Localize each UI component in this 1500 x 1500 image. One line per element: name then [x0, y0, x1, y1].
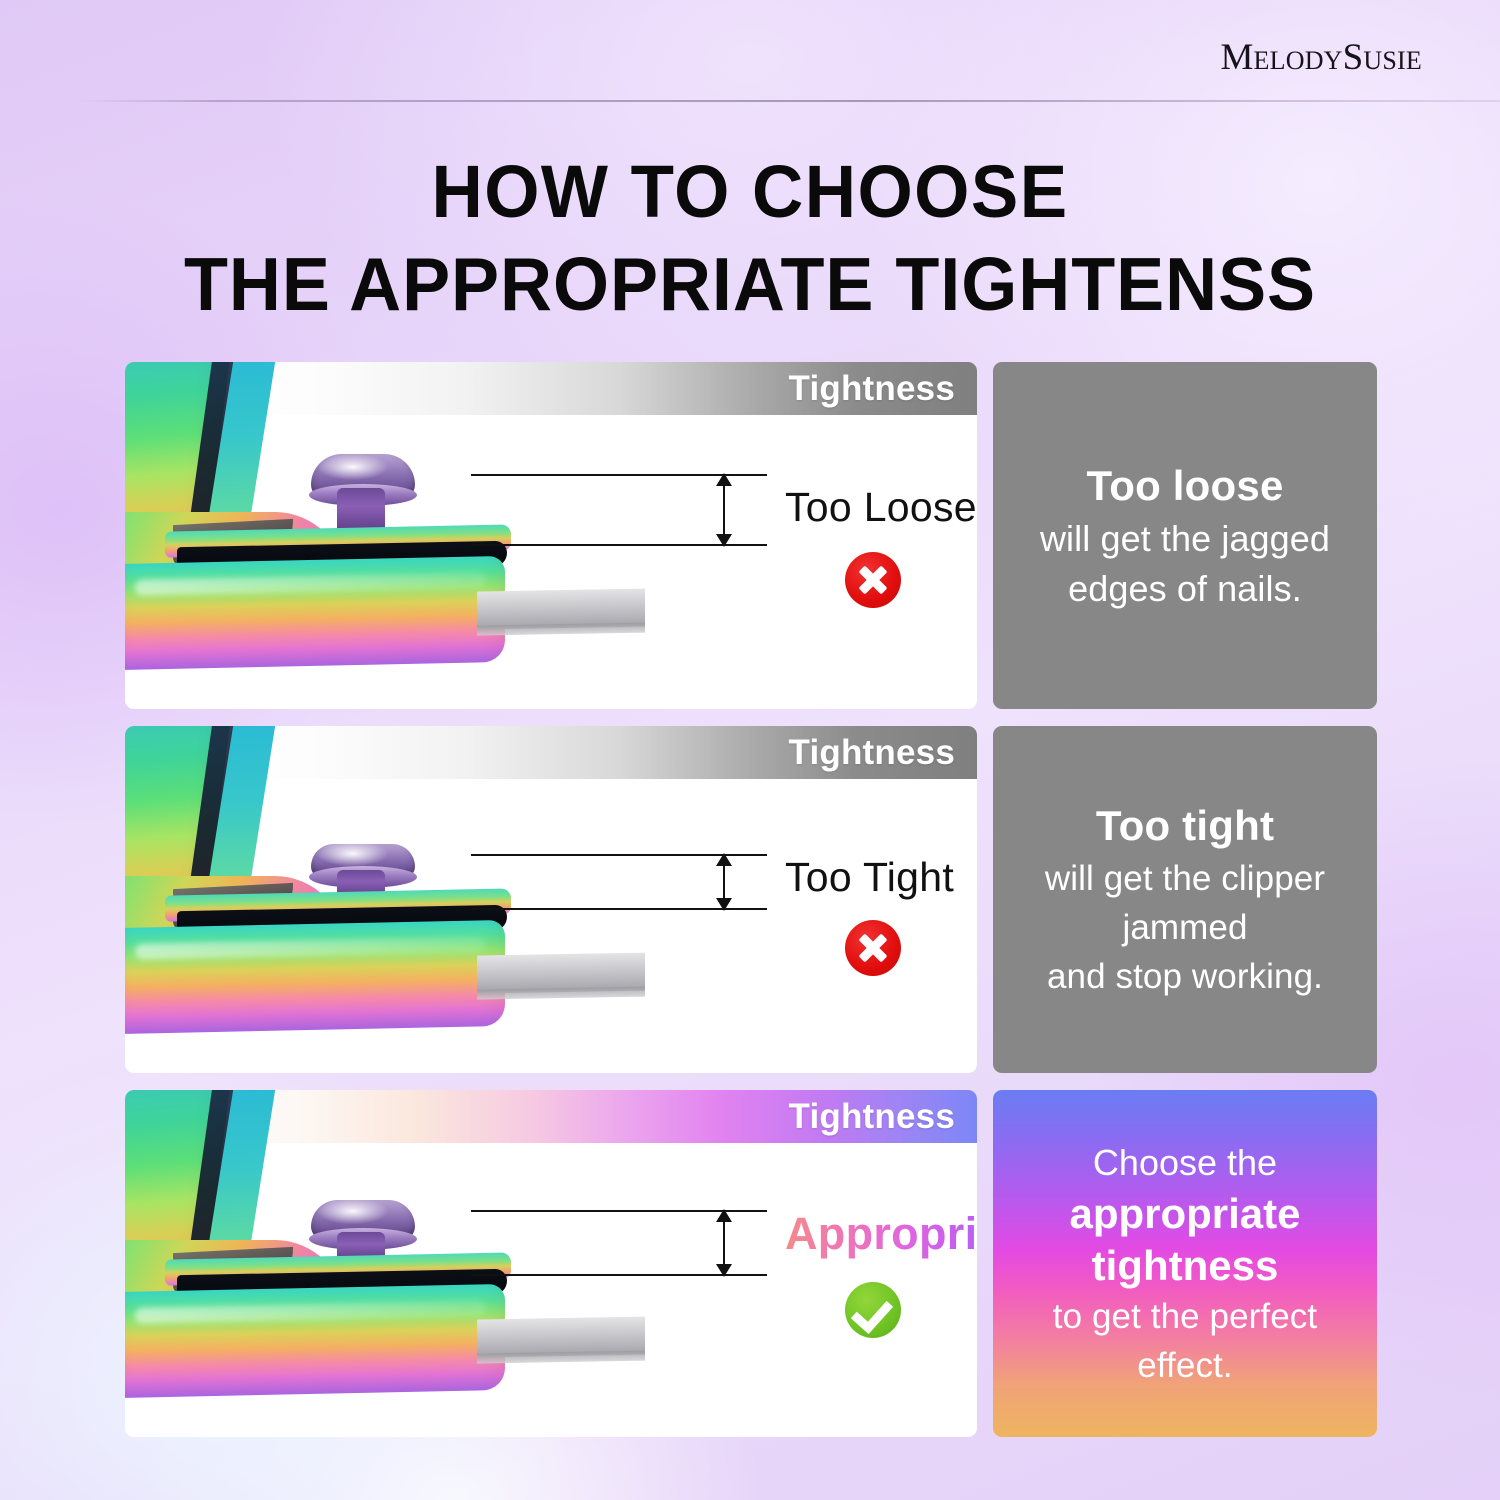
info-panel-strong-line: tightness [1092, 1240, 1279, 1292]
nail-clipper-photo [125, 726, 645, 1073]
info-panel-body-line: will get the jagged [1040, 514, 1330, 564]
tightness-banner-label: Tightness [789, 733, 955, 773]
brand-logo: MelodySusie [1220, 36, 1422, 79]
info-panel-body-line: and stop working. [1047, 952, 1323, 1001]
verdict-label: Appropriate [785, 1208, 977, 1260]
info-panel-heading: Too tight [1096, 798, 1274, 854]
info-panel-appropriate: Choose the appropriate tightness to get … [993, 1090, 1377, 1437]
comparison-row-too-tight: Tightness [125, 726, 1377, 1073]
red-cross-icon [845, 552, 901, 608]
comparison-row-too-loose: Tightness [125, 362, 1377, 709]
info-panel-too-loose: Too loose will get the jagged edges of n… [993, 362, 1377, 709]
page-title: HOW TO CHOOSE THE APPROPRIATE TIGHTENSS [0, 146, 1500, 330]
info-panel-body-line: jammed [1122, 903, 1247, 952]
info-panel-body-line: edges of nails. [1068, 564, 1302, 614]
clipper-photo-card: Tightness [125, 362, 977, 709]
comparison-grid: Tightness [125, 362, 1377, 1437]
title-line-1: HOW TO CHOOSE [30, 146, 1470, 238]
page-header: MelodySusie [0, 0, 1500, 104]
green-check-icon [845, 1282, 901, 1338]
info-panel-body-line: to get the perfect [1053, 1292, 1317, 1341]
info-panel-body-line: effect. [1137, 1341, 1232, 1390]
title-line-2: THE APPROPRIATE TIGHTENSS [30, 238, 1470, 330]
info-panel-too-tight: Too tight will get the clipper jammed an… [993, 726, 1377, 1073]
clipper-photo-card: Tightness [125, 726, 977, 1073]
tightness-banner-label: Tightness [789, 1097, 955, 1137]
clipper-photo-card: Tightness [125, 1090, 977, 1437]
red-cross-icon [845, 920, 901, 976]
verdict-label: Too Tight [785, 854, 954, 901]
tightness-banner-label: Tightness [789, 369, 955, 409]
header-divider [78, 100, 1500, 102]
verdict-label: Too Loose [785, 484, 977, 531]
info-panel-strong-line: appropriate [1069, 1188, 1300, 1240]
info-panel-body-line: will get the clipper [1045, 854, 1325, 903]
comparison-row-appropriate: Tightness [125, 1090, 1377, 1437]
info-panel-heading: Too loose [1086, 458, 1283, 514]
nail-clipper-photo [125, 362, 645, 709]
info-panel-lead: Choose the [1093, 1138, 1277, 1188]
nail-clipper-photo [125, 1090, 645, 1437]
